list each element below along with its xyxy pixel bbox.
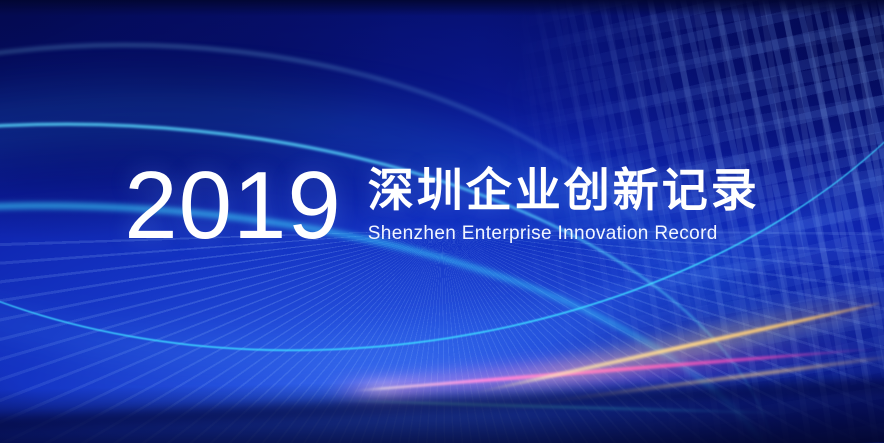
chinese-title: 深圳企业创新记录 <box>368 166 760 216</box>
english-subtitle: Shenzhen Enterprise Innovation Record <box>368 223 760 246</box>
title-block: 2019 深圳企业创新记录 Shenzhen Enterprise Innova… <box>0 160 884 250</box>
year-label: 2019 <box>124 162 342 250</box>
top-edge-shadow <box>0 0 884 16</box>
banner-key-visual: 2019 深圳企业创新记录 Shenzhen Enterprise Innova… <box>0 0 884 443</box>
title-text-group: 深圳企业创新记录 Shenzhen Enterprise Innovation … <box>368 166 760 245</box>
